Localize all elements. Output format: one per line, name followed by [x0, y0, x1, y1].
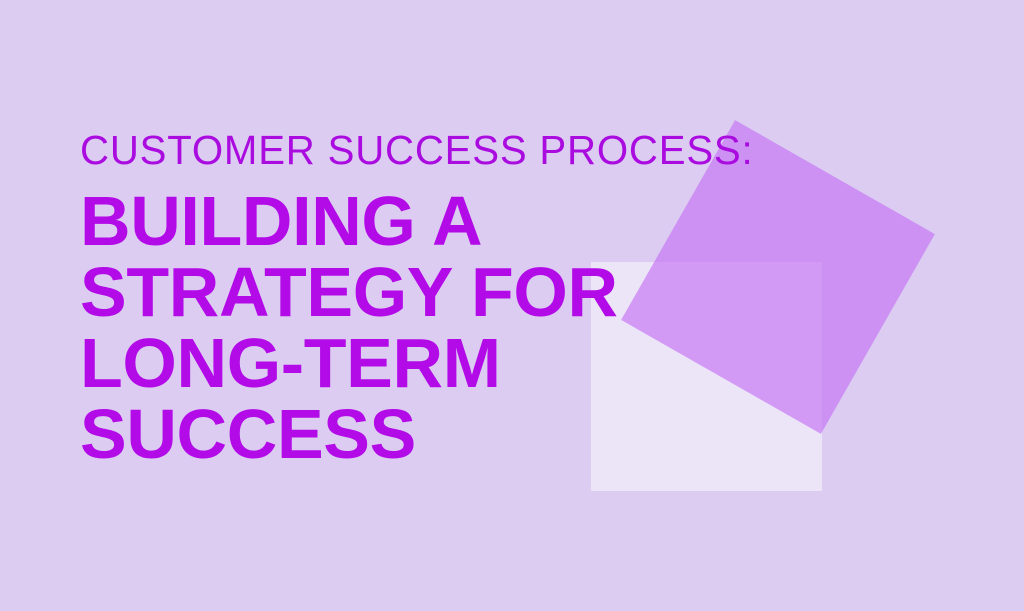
eyebrow-label: CUSTOMER SUCCESS PROCESS: — [80, 128, 766, 172]
headline-line-1: BUILDING A — [80, 186, 780, 257]
headline-line-2: STRATEGY FOR — [80, 257, 780, 328]
headline-line-4: SUCCESS — [80, 399, 780, 470]
slide-canvas: CUSTOMER SUCCESS PROCESS: BUILDING A STR… — [0, 0, 1024, 611]
page-title: BUILDING A STRATEGY FOR LONG-TERM SUCCES… — [80, 172, 780, 470]
headline-line-3: LONG-TERM — [80, 328, 780, 399]
title-text-block: CUSTOMER SUCCESS PROCESS: BUILDING A STR… — [80, 128, 780, 470]
